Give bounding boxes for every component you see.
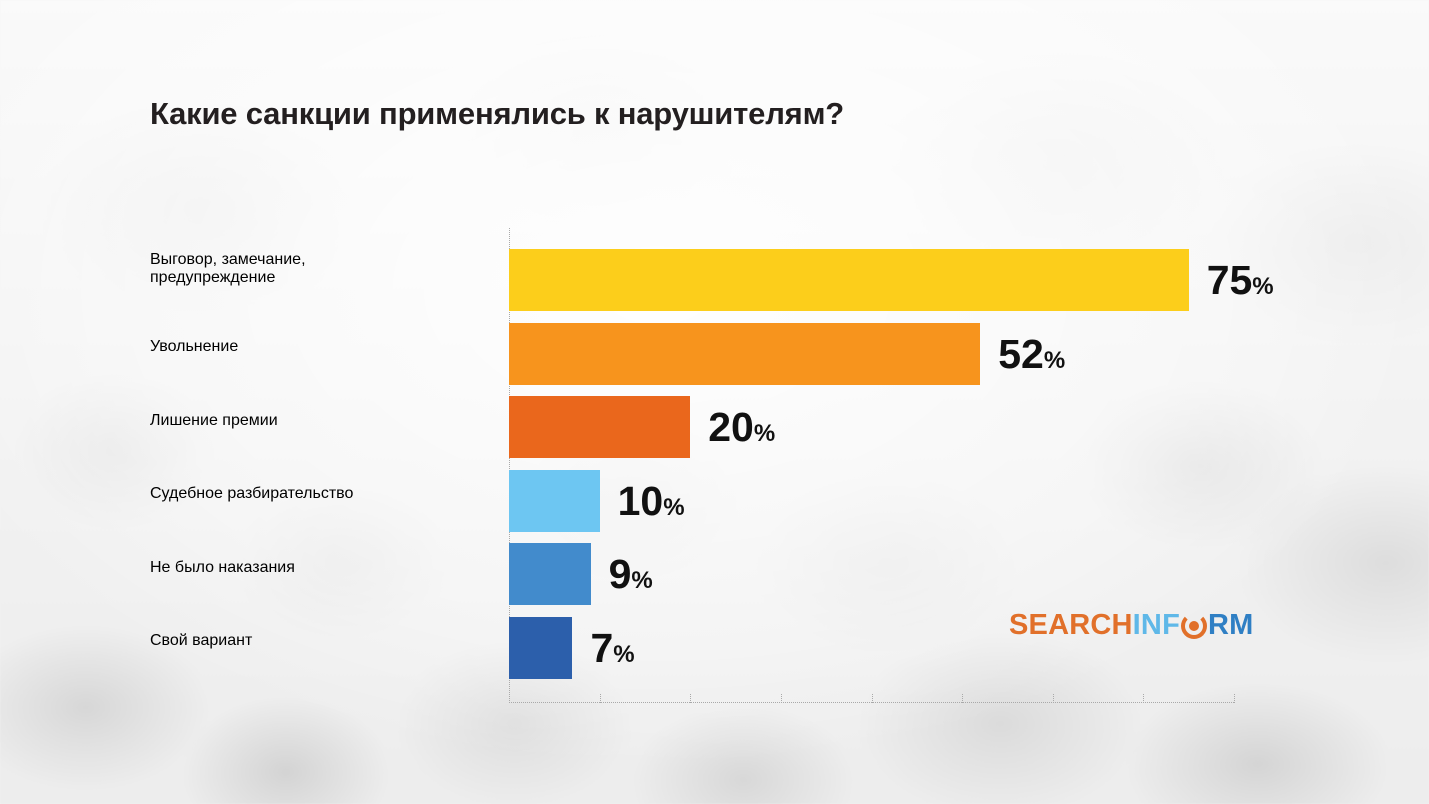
- slide: Какие санкции применялись к нарушителям?…: [0, 0, 1429, 804]
- category-label: Свой вариант: [150, 632, 252, 650]
- bar: [509, 323, 980, 385]
- bar-value-label: 75%: [1207, 260, 1274, 301]
- bar-value-label: 9%: [609, 554, 653, 595]
- bar-value-label: 7%: [590, 628, 634, 669]
- bar-value-label: 10%: [618, 481, 685, 522]
- x-axis-tick-mark: [781, 694, 782, 703]
- x-axis-tick-mark: [1053, 694, 1054, 703]
- bar: [509, 543, 591, 605]
- x-axis-tick-mark: [962, 694, 963, 703]
- x-axis-tick-mark: [1143, 694, 1144, 703]
- bar: [509, 470, 600, 532]
- category-label: Не было наказания: [150, 559, 295, 577]
- x-axis-tick-mark: [600, 694, 601, 703]
- logo-text-rm: RM: [1208, 611, 1254, 640]
- category-label: Лишение премии: [150, 412, 278, 430]
- bar-value-label: 20%: [708, 407, 775, 448]
- x-axis-tick-mark: [1234, 694, 1235, 703]
- category-label: Выговор, замечание, предупреждение: [150, 251, 306, 287]
- bar-value-label: 52%: [998, 334, 1065, 375]
- category-label-list: Выговор, замечание, предупреждениеУвольн…: [150, 228, 490, 703]
- logo-text-inf: INF: [1133, 611, 1180, 640]
- logo-text-search: SEARCH: [1009, 611, 1133, 640]
- page-title: Какие санкции применялись к нарушителям?: [150, 96, 844, 132]
- category-label: Увольнение: [150, 338, 238, 356]
- x-axis-tick-mark: [690, 694, 691, 703]
- category-label: Судебное разбирательство: [150, 485, 353, 503]
- target-circle-icon: [1181, 613, 1207, 639]
- x-axis-tick-mark: [872, 694, 873, 703]
- searchinform-logo: SEARCHINFRM: [1009, 611, 1254, 640]
- bar: [509, 396, 690, 458]
- x-axis-tick-mark: [509, 694, 510, 703]
- bar: [509, 617, 572, 679]
- bar: [509, 249, 1189, 311]
